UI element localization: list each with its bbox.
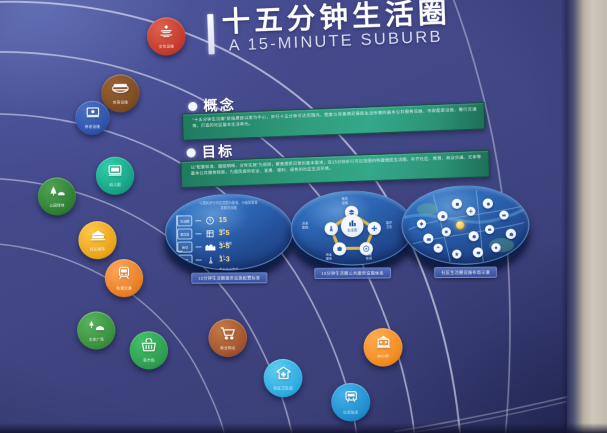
shopping-cart-icon (220, 325, 236, 343)
system-node-caption-1: 教育 设施 (342, 197, 348, 205)
facility-market[interactable]: 菜市场 (130, 331, 169, 369)
school-icon (374, 335, 392, 352)
facility-label: 公交站点 (343, 410, 359, 415)
row-connector (196, 247, 202, 248)
row-unit: 百米步行距离 (219, 268, 239, 271)
disc-standards-caption: 15分钟生活圈服务设施配置标准 (191, 272, 267, 284)
system-center-label: 生活圈 (347, 228, 357, 232)
bus-icon (343, 390, 359, 408)
page-title: 十五分钟生活圈 A 15-MINUTE SUBURB (221, 0, 452, 56)
sports-culture-icon (363, 245, 370, 252)
facility-label: 轨道交通 (116, 286, 131, 291)
facility-label: 文体广场 (89, 337, 104, 342)
map-pin-4 (452, 199, 462, 209)
disc-system-top: 生活圈 教育 设施 医疗 卫生 文体 休闲 商业 服务 (291, 190, 415, 266)
facility-label: 商业网点 (220, 345, 235, 350)
map-pin-5 (466, 207, 475, 216)
facility-label: 社区服务 (90, 247, 105, 252)
display-wall-panel: 十五分钟生活圈 A 15-MINUTE SUBURB 概念 “十五分钟生活圈”是… (0, 0, 590, 433)
map-pin-2 (437, 211, 447, 221)
facility-elderly[interactable]: 养老设施 (75, 101, 110, 136)
map-pin-9 (491, 243, 500, 252)
facility-retail[interactable]: 商业网点 (208, 319, 247, 357)
map-pin-15 (417, 219, 426, 228)
system-node-2 (368, 222, 381, 235)
node-sub: 设施 (342, 201, 348, 205)
map-pin-12 (442, 227, 451, 236)
houses-icon (205, 242, 216, 252)
node-sub: 卫生 (386, 225, 392, 229)
park-tree-icon (48, 184, 65, 201)
node-sub: 服务 (326, 257, 332, 261)
disc-map-top (401, 185, 530, 265)
facility-label: 文化设施 (159, 44, 174, 49)
city-core-icon (348, 219, 357, 227)
row-value: 1-3 (219, 257, 230, 264)
system-node-caption-2: 医疗 卫生 (386, 221, 392, 229)
wall-edge-bottom (0, 423, 607, 433)
disc-map[interactable]: 社区生活圈设施布局示意 (401, 185, 530, 265)
node-sub: 休闲 (366, 256, 372, 260)
elderly-icon (328, 225, 335, 232)
tier-chip: 居住区 (177, 229, 192, 240)
facility-culture[interactable]: 文化设施 (147, 17, 186, 56)
facility-label: 体育设施 (113, 100, 128, 105)
system-node-5 (325, 222, 338, 235)
node-sub: 助残 (302, 225, 308, 229)
map-pin-7 (499, 210, 508, 219)
facility-kindergarten[interactable]: 幼儿园 (96, 157, 135, 196)
facility-label: 菜市场 (143, 358, 155, 363)
system-node-caption-4: 商业 服务 (326, 253, 332, 261)
bullet-dot-icon (186, 148, 195, 157)
medical-icon (371, 225, 378, 232)
row-connector (196, 234, 202, 235)
map-pin-8 (506, 229, 516, 239)
map-pin-14 (485, 225, 494, 234)
table-row: 居住区 3-5 万人规模 (177, 227, 283, 241)
facility-greenspace[interactable]: 公园绿地 (38, 177, 76, 215)
commerce-icon (336, 245, 343, 252)
facility-label: 社区卫生站 (273, 386, 292, 391)
system-center-node: 生活圈 (341, 215, 364, 237)
tier-chip: 邻里 (178, 255, 193, 266)
facility-health[interactable]: 社区卫生站 (264, 359, 303, 398)
title-accent-bar (207, 14, 215, 55)
map-pin-1 (423, 233, 433, 243)
community-center-icon (89, 229, 106, 245)
elderly-care-icon (85, 106, 100, 123)
facility-label: 公园绿地 (49, 203, 64, 208)
map-pin-3 (434, 244, 443, 253)
map-core-marker (456, 221, 464, 229)
disc-system[interactable]: 生活圈 教育 设施 医疗 卫生 文体 休闲 商业 服务 (291, 190, 415, 266)
facility-transit-rail[interactable]: 轨道交通 (105, 259, 144, 297)
tier-chip: 街坊 (177, 242, 192, 253)
standards-note: 以居民步行可达范围为基准，分级配置各类服务设施 (198, 200, 259, 210)
kindergarten-icon (107, 164, 123, 181)
standards-rows: 生活圈 15 分钟 居住区 (177, 214, 283, 267)
facility-sports[interactable]: 体育设施 (101, 74, 140, 113)
system-node-4 (333, 242, 346, 255)
row-connector (195, 221, 201, 222)
facility-label: 养老设施 (85, 125, 100, 130)
row-connector (196, 260, 202, 261)
health-cross-icon (275, 365, 290, 383)
disc-system-caption: 15分钟生活圈公共服务设施体系 (314, 267, 391, 279)
pin-icon (205, 255, 216, 265)
plaza-icon (88, 319, 105, 335)
bullet-dot-icon (188, 101, 197, 110)
disc-map-caption: 社区生活圈设施布局示意 (434, 267, 497, 279)
facility-school[interactable]: 中小学 (363, 328, 402, 367)
culture-icon (158, 24, 174, 42)
system-node-caption-5: 养老 助残 (302, 221, 308, 229)
disc-standards-top: 以居民步行可达范围为基准，分级配置各类服务设施 生活圈 15 分钟 (165, 193, 294, 271)
building-icon (205, 229, 216, 239)
tram-icon (117, 266, 131, 284)
map-pin-11 (452, 250, 461, 259)
map-pin-13 (468, 231, 478, 241)
map-pin-6 (483, 198, 493, 208)
disc-standards[interactable]: 以居民步行可达范围为基准，分级配置各类服务设施 生活圈 15 分钟 (165, 193, 294, 271)
stadium-icon (111, 81, 129, 98)
facility-square[interactable]: 文体广场 (77, 311, 116, 349)
facility-community[interactable]: 社区服务 (78, 221, 117, 259)
facility-bus[interactable]: 公交站点 (331, 383, 370, 422)
exhibition-wall-screenshot: 十五分钟生活圈 A 15-MINUTE SUBURB 概念 “十五分钟生活圈”是… (0, 0, 607, 433)
system-node-caption-3: 文体 休闲 (366, 252, 372, 260)
tier-chip: 生活圈 (177, 216, 192, 227)
room-wall-right (567, 0, 607, 433)
clock-icon (205, 216, 216, 226)
table-row: 邻里 1-3 百米步行距离 (177, 253, 283, 267)
basket-icon (141, 338, 157, 356)
facility-label: 中小学 (377, 354, 389, 359)
facility-label: 幼儿园 (109, 183, 121, 188)
map-pin-10 (473, 247, 483, 257)
